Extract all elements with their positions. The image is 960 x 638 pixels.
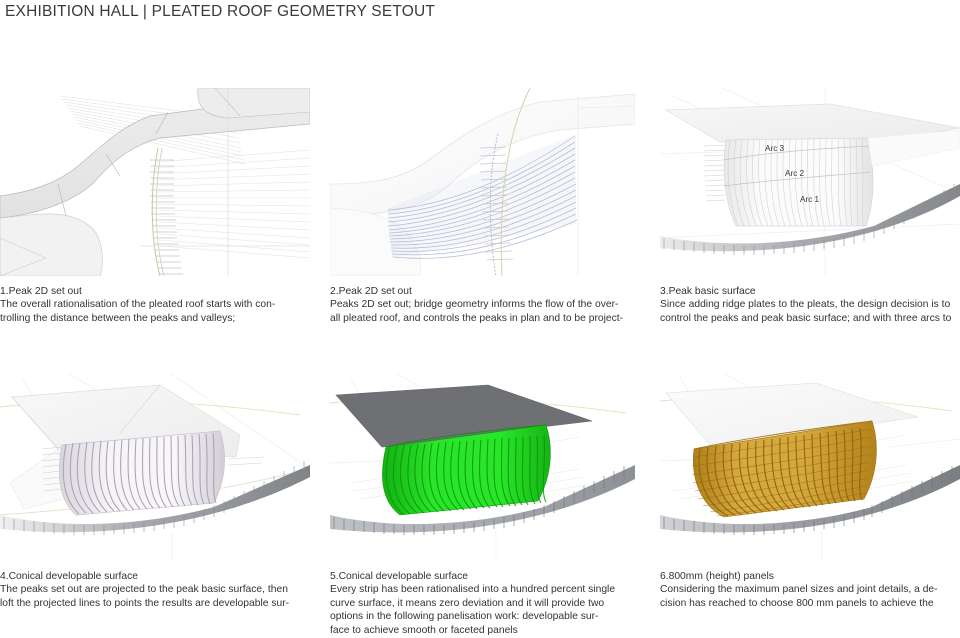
caption-line: The overall rationalisation of the pleat…	[0, 298, 310, 311]
caption-line: all pleated roof, and controls the peaks…	[330, 312, 635, 325]
panel-3: Arc 3 Arc 2 Arc 1 3.Peak basic surface S…	[660, 88, 960, 276]
caption-line: Every strip has been rationalised into a…	[330, 583, 635, 596]
figure-2-svg	[330, 88, 635, 276]
plan-block-upper-right	[198, 88, 310, 118]
figure-4-svg	[0, 373, 310, 561]
panel-4: 4.Conical developable surface The peaks …	[0, 373, 310, 561]
caption-line: Peaks 2D set out; bridge geometry inform…	[330, 298, 635, 311]
caption-heading: 2.Peak 2D set out	[330, 285, 635, 298]
caption-line: control the peaks and peak basic surface…	[660, 312, 960, 325]
caption-heading: 3.Peak basic surface	[660, 285, 960, 298]
caption-heading: 6.800mm (height) panels	[660, 570, 960, 583]
caption-line: cision has reached to choose 800 mm pane…	[660, 597, 960, 610]
caption-heading: 4.Conical developable surface	[0, 570, 310, 583]
caption-body: The overall rationalisation of the pleat…	[0, 298, 310, 325]
figure-conical-developable-gray	[0, 373, 310, 561]
page-title: EXHIBITION HALL | PLEATED ROOF GEOMETRY …	[5, 3, 435, 21]
projection-rays	[156, 150, 310, 258]
caption-body: Since adding ridge plates to the pleats,…	[660, 298, 960, 325]
caption-line: curve surface, it means zero deviation a…	[330, 597, 635, 610]
caption-heading: 5.Conical developable surface	[330, 570, 635, 583]
panel-1: 1.Peak 2D set out The overall rationalis…	[0, 88, 310, 276]
caption-line: face to achieve smooth or faceted panels	[330, 624, 635, 637]
caption-line: Considering the maximum panel sizes and …	[660, 583, 960, 596]
guide-curve-green	[156, 148, 164, 276]
panel-6: 6.800mm (height) panels Considering the …	[660, 373, 960, 561]
figure-peak-2d-projected	[330, 88, 635, 276]
figure-800mm-panels	[660, 373, 960, 561]
arc-label-2: Arc 2	[785, 169, 805, 178]
caption-4: 4.Conical developable surface The peaks …	[0, 570, 310, 610]
caption-2: 2.Peak 2D set out Peaks 2D set out; brid…	[330, 285, 635, 325]
caption-3: 3.Peak basic surface Since adding ridge …	[660, 285, 960, 325]
figure-5-svg	[330, 373, 635, 561]
caption-line: The peaks set out are projected to the p…	[0, 583, 310, 596]
caption-body: Every strip has been rationalised into a…	[330, 583, 635, 637]
figure-peak-basic-surface: Arc 3 Arc 2 Arc 1	[660, 88, 960, 276]
caption-5: 5.Conical developable surface Every stri…	[330, 570, 635, 637]
arc-label-3: Arc 3	[765, 144, 785, 153]
figure-1-svg	[0, 88, 310, 276]
caption-1: 1.Peak 2D set out The overall rationalis…	[0, 285, 310, 325]
caption-heading: 1.Peak 2D set out	[0, 285, 310, 298]
arc-label-1: Arc 1	[800, 195, 820, 204]
drawing-sheet: EXHIBITION HALL | PLEATED ROOF GEOMETRY …	[0, 0, 960, 638]
caption-line: trolling the distance between the peaks …	[0, 312, 310, 325]
caption-line: loft the projected lines to points the r…	[0, 597, 310, 610]
figure-conical-developable-green	[330, 373, 635, 561]
caption-6: 6.800mm (height) panels Considering the …	[660, 570, 960, 610]
caption-body: Considering the maximum panel sizes and …	[660, 583, 960, 610]
caption-body: The peaks set out are projected to the p…	[0, 583, 310, 610]
figure-3-svg: Arc 3 Arc 2 Arc 1	[660, 88, 960, 276]
caption-body: Peaks 2D set out; bridge geometry inform…	[330, 298, 635, 325]
figure-6-svg	[660, 373, 960, 561]
panel-2: 2.Peak 2D set out Peaks 2D set out; brid…	[330, 88, 635, 276]
panel-5: 5.Conical developable surface Every stri…	[330, 373, 635, 561]
caption-line: options in the following panelisation wo…	[330, 610, 635, 623]
figure-peak-2d-set-out	[0, 88, 310, 276]
caption-line: Since adding ridge plates to the pleats,…	[660, 298, 960, 311]
